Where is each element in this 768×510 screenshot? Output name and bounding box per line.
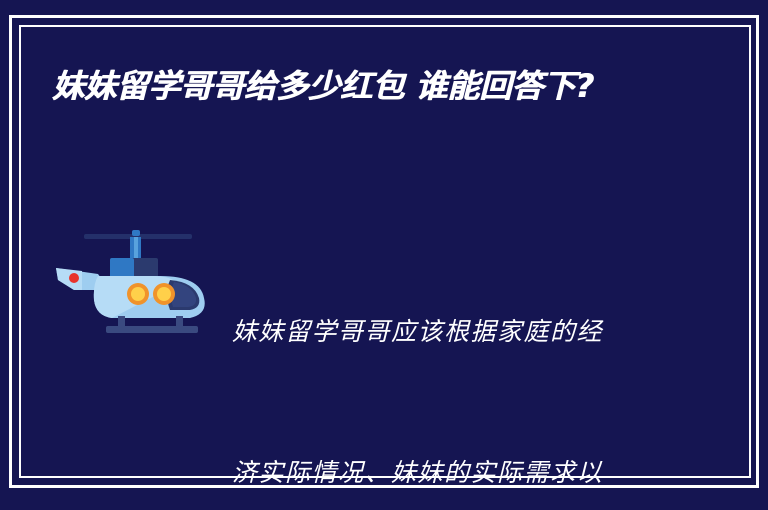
poster-canvas: 妹妹留学哥哥给多少红包 谁能回答下? <box>0 0 768 510</box>
body-line: 济实际情况、妹妹的实际需求以 <box>232 449 652 496</box>
body-paragraph: 妹妹留学哥哥应该根据家庭的经 济实际情况、妹妹的实际需求以 及表达关爱和鼓励的目… <box>232 214 652 510</box>
body-line: 妹妹留学哥哥应该根据家庭的经 <box>232 308 652 355</box>
page-title: 妹妹留学哥哥给多少红包 谁能回答下? <box>52 62 652 110</box>
helicopter-illustration <box>52 228 210 340</box>
